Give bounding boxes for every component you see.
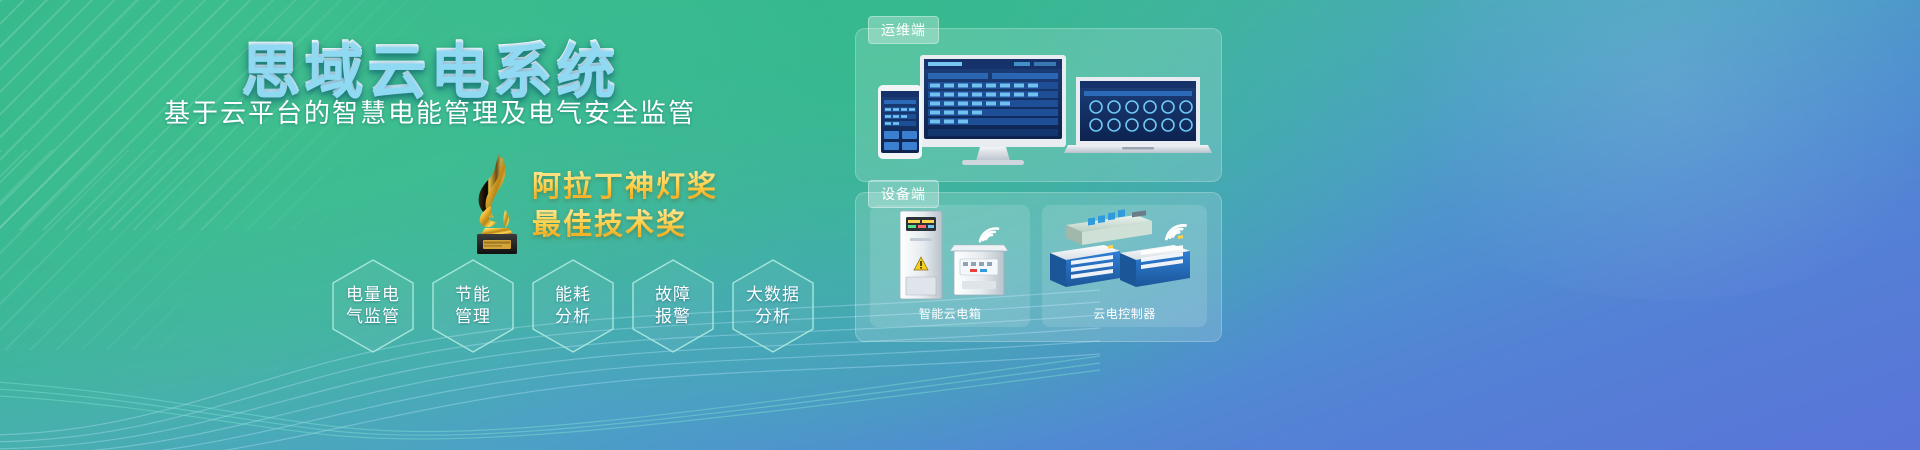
device-panel: 设备端	[855, 192, 1222, 342]
feature-badge-4[interactable]: 大数据 分析	[730, 258, 816, 354]
phone-icon	[878, 85, 922, 159]
device-item-controller-caption: 云电控制器	[1042, 305, 1207, 322]
award-list: 阿拉丁神灯奖 最佳技术奖	[532, 168, 832, 244]
award-item-1: 最佳技术奖	[532, 206, 832, 244]
desktop-monitor-icon	[920, 55, 1066, 165]
feature-badge-1-line1: 节能	[455, 284, 491, 306]
top-glow-decoration	[1360, 0, 1920, 300]
feature-badge-1-line2: 管理	[455, 306, 491, 328]
ops-devices-illustration	[864, 47, 1214, 175]
feature-badge-2-line1: 能耗	[555, 284, 591, 306]
cabinet-icon	[870, 205, 1030, 305]
page-subtitle: 基于云平台的智慧电能管理及电气安全监管	[0, 93, 860, 130]
feature-badge-0-line2: 气监管	[346, 306, 400, 328]
award-item-0: 阿拉丁神灯奖	[532, 168, 832, 206]
left-content: 思域云电系统 基于云平台的智慧电能管理及电气安全监管	[0, 0, 860, 450]
trophy-icon	[455, 148, 535, 258]
feature-badge-4-line2: 分析	[746, 306, 800, 328]
device-item-cabinet-caption: 智能云电箱	[870, 305, 1030, 322]
wifi-icon	[1160, 215, 1192, 241]
device-panel-label: 设备端	[868, 180, 939, 208]
feature-badge-0-line1: 电量电	[346, 284, 400, 306]
feature-badge-0[interactable]: 电量电 气监管	[330, 258, 416, 354]
wifi-icon	[974, 219, 1004, 243]
device-item-controller[interactable]: 云电控制器	[1042, 205, 1207, 327]
promo-banner: 思域云电系统 基于云平台的智慧电能管理及电气安全监管	[0, 0, 1920, 450]
ops-panel: 运维端	[855, 28, 1222, 182]
controller-right	[1120, 235, 1190, 287]
laptop-icon	[1064, 77, 1212, 153]
feature-badge-2-line2: 分析	[555, 306, 591, 328]
ops-panel-label: 运维端	[868, 16, 939, 44]
feature-badge-1[interactable]: 节能 管理	[430, 258, 516, 354]
controller-left	[1050, 245, 1120, 287]
feature-badge-3[interactable]: 故障 报警	[630, 258, 716, 354]
feature-badge-2[interactable]: 能耗 分析	[530, 258, 616, 354]
feature-badge-4-line1: 大数据	[746, 284, 800, 306]
feature-badge-row: 电量电 气监管 节能 管理 能耗 分析	[330, 258, 816, 354]
feature-badge-3-line2: 报警	[655, 306, 691, 328]
controller-top	[1066, 209, 1152, 245]
feature-badge-3-line1: 故障	[655, 284, 691, 306]
device-item-cabinet[interactable]: 智能云电箱	[870, 205, 1030, 327]
